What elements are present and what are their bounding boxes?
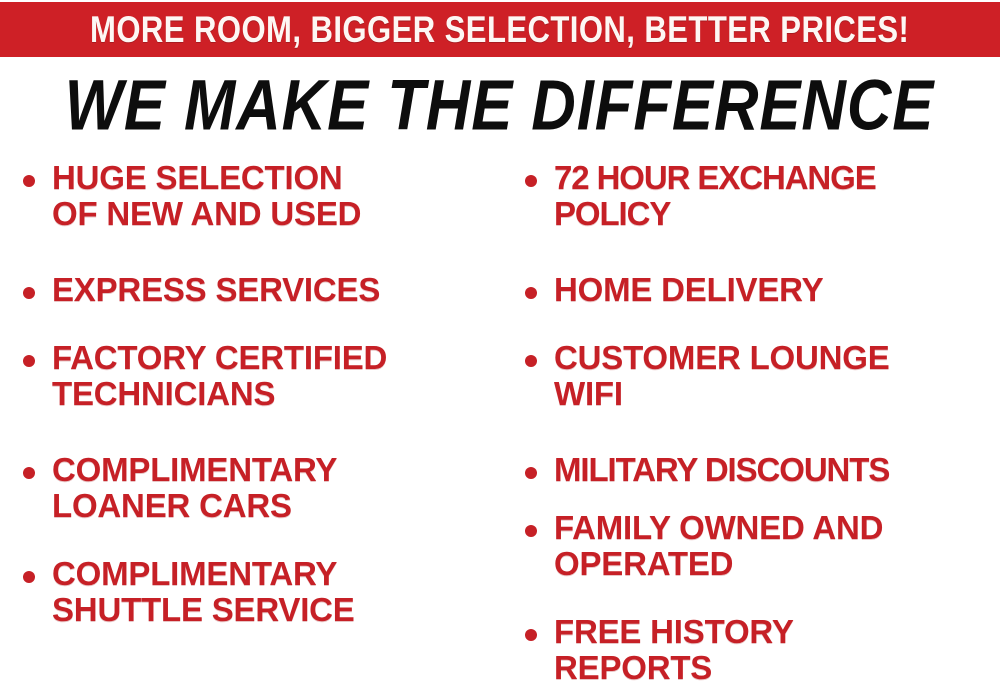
column-spacer: [18, 538, 498, 556]
column-spacer: [520, 322, 1000, 340]
bullet-dot-icon: [23, 287, 35, 299]
benefit-label: EXPRESS SERVICES: [52, 272, 498, 308]
benefit-item-family-owned: FAMILY OWNED AND OPERATED: [520, 510, 1000, 582]
bullet-dot-icon: [525, 467, 537, 479]
poster-canvas: MORE ROOM, BIGGER SELECTION, BETTER PRIC…: [0, 0, 1000, 694]
benefit-label: HUGE SELECTION OF NEW AND USED: [52, 160, 498, 232]
benefits-column-right: 72 HOUR EXCHANGE POLICY HOME DELIVERY CU…: [520, 160, 1000, 694]
benefit-item-military-discounts: MILITARY DISCOUNTS: [520, 452, 1000, 488]
benefit-item-exchange-policy: 72 HOUR EXCHANGE POLICY: [520, 160, 1000, 232]
benefit-item-factory-certified: FACTORY CERTIFIED TECHNICIANS: [18, 340, 498, 412]
benefit-item-huge-selection: HUGE SELECTION OF NEW AND USED: [18, 160, 498, 232]
benefits-columns: HUGE SELECTION OF NEW AND USED EXPRESS S…: [0, 160, 1000, 694]
benefit-label: MILITARY DISCOUNTS: [554, 452, 1000, 488]
benefit-item-customer-lounge: CUSTOMER LOUNGE WIFI: [520, 340, 1000, 412]
bullet-dot-icon: [525, 175, 537, 187]
benefit-item-complimentary-shuttle: COMPLIMENTARY SHUTTLE SERVICE: [18, 556, 498, 628]
bullet-dot-icon: [525, 287, 537, 299]
benefit-label: FAMILY OWNED AND OPERATED: [554, 510, 1000, 582]
bullet-dot-icon: [525, 629, 537, 641]
column-spacer: [18, 246, 498, 272]
bullet-dot-icon: [525, 525, 537, 537]
benefit-item-history-reports: FREE HISTORY REPORTS: [520, 614, 1000, 686]
column-spacer: [520, 596, 1000, 614]
column-spacer: [18, 426, 498, 452]
headline: WE MAKE THE DIFFERENCE: [0, 70, 1000, 137]
benefit-label: CUSTOMER LOUNGE WIFI: [554, 340, 1000, 412]
benefit-item-complimentary-loaners: COMPLIMENTARY LOANER CARS: [18, 452, 498, 524]
top-banner: MORE ROOM, BIGGER SELECTION, BETTER PRIC…: [0, 2, 1000, 57]
bullet-dot-icon: [23, 355, 35, 367]
bullet-dot-icon: [23, 571, 35, 583]
column-spacer: [520, 426, 1000, 452]
benefit-label: COMPLIMENTARY LOANER CARS: [52, 452, 498, 524]
bullet-dot-icon: [23, 175, 35, 187]
bullet-dot-icon: [525, 355, 537, 367]
benefit-label: FACTORY CERTIFIED TECHNICIANS: [52, 340, 498, 412]
top-banner-text: MORE ROOM, BIGGER SELECTION, BETTER PRIC…: [90, 11, 909, 48]
headline-text: WE MAKE THE DIFFERENCE: [65, 70, 935, 141]
benefits-column-left: HUGE SELECTION OF NEW AND USED EXPRESS S…: [18, 160, 498, 694]
benefit-label: COMPLIMENTARY SHUTTLE SERVICE: [52, 556, 498, 628]
bullet-dot-icon: [23, 467, 35, 479]
benefit-label: HOME DELIVERY: [554, 272, 1000, 308]
column-spacer: [18, 322, 498, 340]
benefit-item-express-services: EXPRESS SERVICES: [18, 272, 498, 308]
benefit-item-home-delivery: HOME DELIVERY: [520, 272, 1000, 308]
benefit-label: 72 HOUR EXCHANGE POLICY: [554, 160, 1000, 232]
benefit-label: FREE HISTORY REPORTS: [554, 614, 1000, 686]
column-spacer: [520, 246, 1000, 272]
